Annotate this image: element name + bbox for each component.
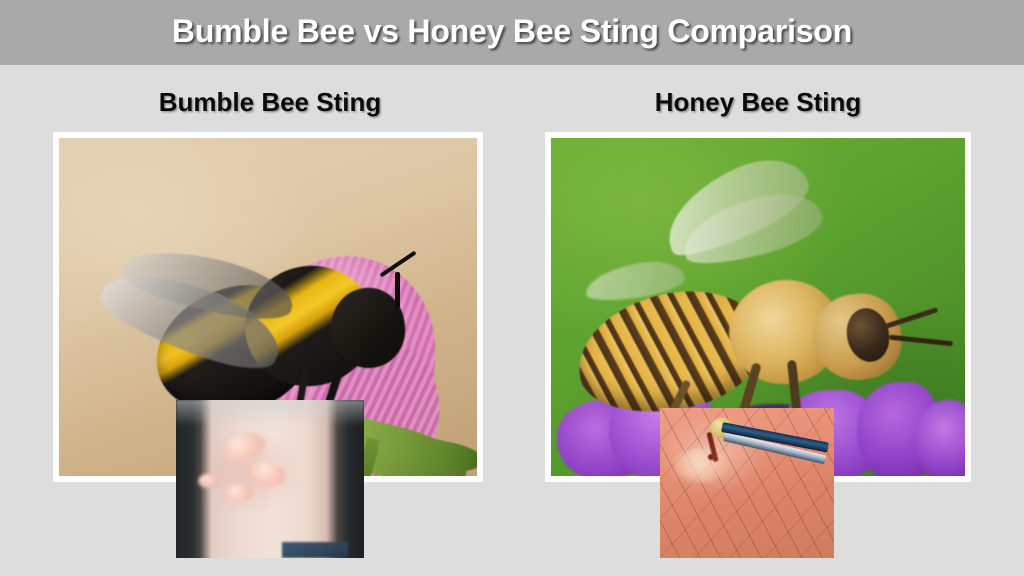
bumble-bee-sting-inset-photo bbox=[184, 408, 356, 550]
bumble-bee-antenna-right bbox=[395, 272, 400, 308]
sting-welt-3 bbox=[198, 474, 218, 488]
honey-bee-sting-inset-frame bbox=[660, 408, 834, 558]
sting-swelling-area bbox=[674, 448, 730, 482]
honey-bee-sting-inset-photo bbox=[668, 416, 826, 550]
page-title: Bumble Bee vs Honey Bee Sting Comparison bbox=[0, 0, 1024, 65]
column-heading-honey-bee: Honey Bee Sting bbox=[545, 82, 971, 122]
welt-skin-highlight bbox=[176, 400, 364, 426]
title-bar: Bumble Bee vs Honey Bee Sting Comparison bbox=[0, 0, 1024, 65]
comparison-slide: Bumble Bee vs Honey Bee Sting Comparison… bbox=[0, 0, 1024, 576]
lavender-bloom-6 bbox=[917, 400, 965, 476]
welt-clothing-edge bbox=[282, 542, 348, 558]
bumble-bee-sting-inset-frame bbox=[176, 400, 364, 558]
column-heading-bumble-bee: Bumble Bee Sting bbox=[57, 82, 483, 122]
